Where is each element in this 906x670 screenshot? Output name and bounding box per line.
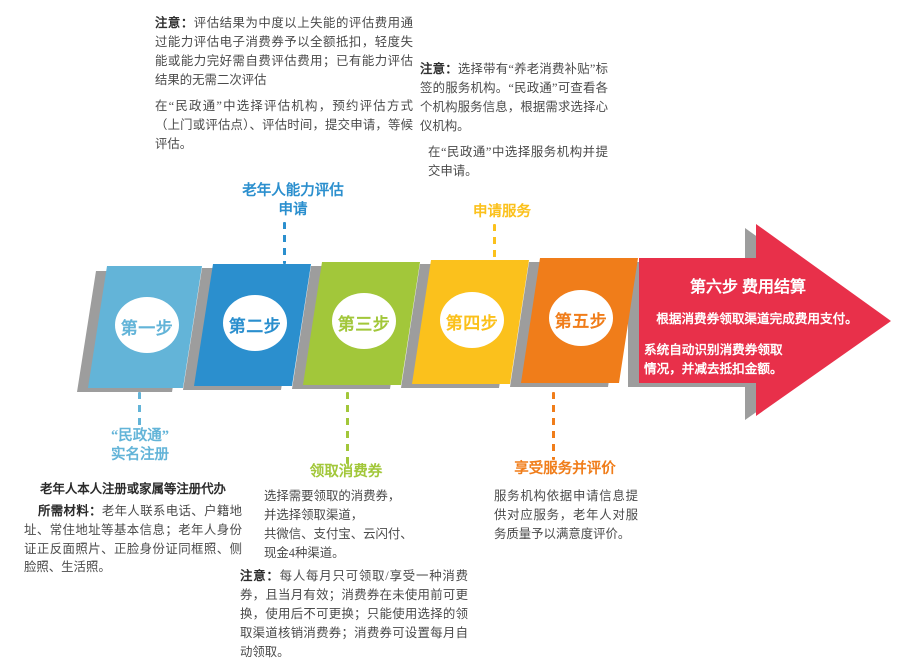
step-6-line-1: 根据消费券领取渠道完成费用支付。 bbox=[645, 310, 869, 329]
diagram-canvas: 注意：评估结果为中度以上失能的评估费用通过能力评估电子消费券予以全额抵扣，轻度失… bbox=[0, 0, 906, 670]
description-step-1: 老年人本人注册或家属等注册代办 所需材料：老年人联系电话、户籍地址、常住地址等基… bbox=[24, 480, 242, 577]
note-service-lead: 注意： bbox=[420, 62, 458, 76]
note-assessment-paragraph1: 注意：评估结果为中度以上失能的评估费用通过能力评估电子消费券予以全额抵扣，轻度失… bbox=[155, 14, 413, 89]
note-assessment-paragraph2: 在“民政通”中选择评估机构，预约评估方式（上门或评估点）、评估时间，提交申请，等… bbox=[155, 97, 413, 154]
note-service-paragraph1: 注意：选择带有“养老消费补贴”标签的服务机构。“民政通”可查看各个机构服务信息，… bbox=[420, 60, 608, 135]
connector-step5 bbox=[552, 392, 555, 460]
description-step-5: 服务机构依据申请信息提供对应服务，老年人对服务质量予以满意度评价。 bbox=[494, 487, 638, 544]
description-step-1-lead: 所需材料： bbox=[24, 504, 102, 518]
step-3-label: 第三步 bbox=[324, 310, 404, 335]
description-step-1-bold: 老年人本人注册或家属等注册代办 bbox=[24, 480, 242, 499]
step-title-5: 享受服务并评价 bbox=[492, 460, 638, 479]
step-1-label: 第一步 bbox=[107, 314, 187, 339]
connector-step3 bbox=[346, 392, 349, 464]
connector-step2 bbox=[283, 222, 286, 264]
description-step-3-body: 选择需要领取的消费券， 并选择领取渠道， 共微信、支付宝、云闪付、 现金4种渠道… bbox=[240, 487, 468, 562]
step-6-title: 第六步 费用结算 bbox=[648, 273, 848, 297]
connector-step1 bbox=[138, 392, 141, 430]
step-title-4: 申请服务 bbox=[432, 203, 572, 222]
description-step-1-body: 所需材料：老年人联系电话、户籍地址、常住地址等基本信息；老年人身份证正反面照片、… bbox=[24, 502, 242, 577]
step-2-label: 第二步 bbox=[215, 312, 295, 337]
step-title-3: 领取消费券 bbox=[290, 463, 402, 482]
connector-step4 bbox=[493, 224, 496, 268]
description-step-5-body: 服务机构依据申请信息提供对应服务，老年人对服务质量予以满意度评价。 bbox=[494, 487, 638, 544]
note-assessment-lead: 注意： bbox=[155, 16, 194, 30]
step-title-2: 老年人能力评估 申请 bbox=[208, 182, 378, 220]
step-title-1: “民政通” 实名注册 bbox=[62, 427, 218, 465]
description-step-3: 选择需要领取的消费券， 并选择领取渠道， 共微信、支付宝、云闪付、 现金4种渠道… bbox=[240, 487, 468, 662]
note-service-paragraph2: 在“民政通”中选择服务机构并提交申请。 bbox=[420, 143, 608, 181]
step-5-label: 第五步 bbox=[541, 307, 621, 332]
step-4-label: 第四步 bbox=[432, 309, 512, 334]
note-service: 注意：选择带有“养老消费补贴”标签的服务机构。“民政通”可查看各个机构服务信息，… bbox=[420, 60, 608, 181]
description-step-3-note: 注意：每人每月只可领取/享受一种消费券，且当月有效；消费券在未使用前可更换，使用… bbox=[240, 567, 468, 661]
description-step-3-note-lead: 注意： bbox=[240, 569, 280, 583]
note-assessment: 注意：评估结果为中度以上失能的评估费用通过能力评估电子消费券予以全额抵扣，轻度失… bbox=[155, 14, 413, 154]
note-assessment-body1: 评估结果为中度以上失能的评估费用通过能力评估电子消费券予以全额抵扣，轻度失能或能… bbox=[155, 16, 413, 87]
step-6-line-2: 系统自动识别消费券领取 情况，并减去抵扣金额。 bbox=[644, 341, 834, 379]
